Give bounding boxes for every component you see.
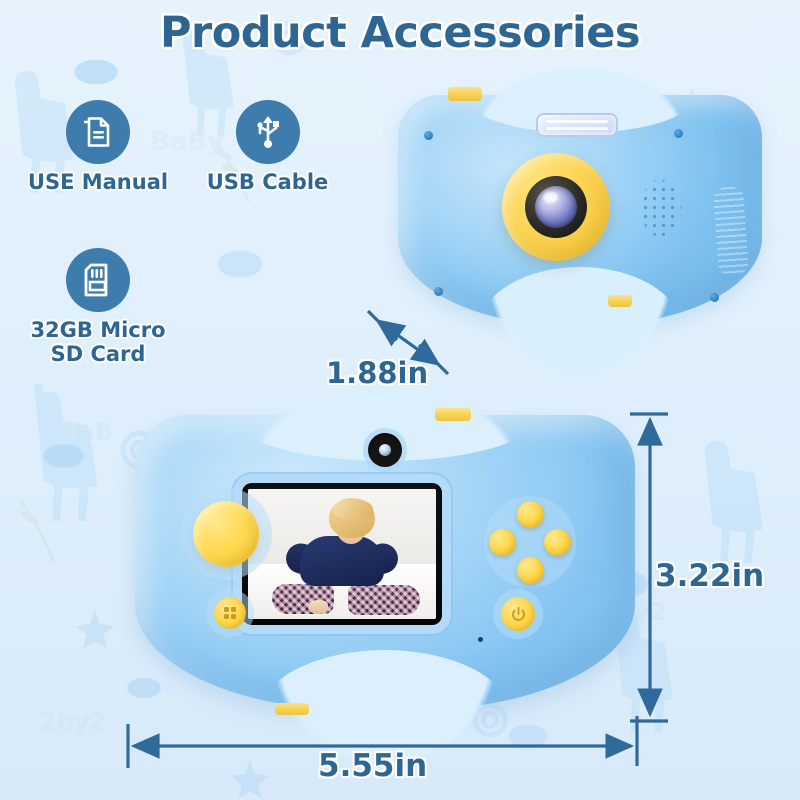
side-port-nub xyxy=(608,295,632,307)
led-indicator xyxy=(478,637,483,642)
accessory-label: 32GB Micro SD Card xyxy=(18,318,178,366)
usb-cable-icon xyxy=(249,113,287,151)
accessory-label: USE Manual xyxy=(18,170,178,194)
svg-text:BaB: BaB xyxy=(60,418,113,446)
camera-bottom-contour xyxy=(480,267,680,387)
dimension-label-width: 5.55in xyxy=(318,748,427,784)
screw-top-left xyxy=(424,131,433,140)
grip-ridges xyxy=(713,186,749,276)
screw-top-right xyxy=(674,129,683,138)
shutter-button[interactable] xyxy=(193,501,259,567)
shutter-nub-top xyxy=(448,87,482,101)
speaker-grille xyxy=(632,167,690,251)
page-title: Product Accessories xyxy=(0,8,800,58)
dpad-button-right[interactable] xyxy=(544,529,571,556)
accessory-item-manual: USE Manual xyxy=(18,100,178,194)
screw-bottom-right xyxy=(710,293,719,302)
dpad-button-left[interactable] xyxy=(489,529,516,556)
screw-bottom-left xyxy=(434,287,443,296)
lens-bezel xyxy=(525,176,587,238)
accessory-item-usb: USB Cable xyxy=(190,100,345,194)
kids-camera-back-view xyxy=(135,415,635,710)
selfie-camera-lens xyxy=(368,433,402,467)
power-button[interactable] xyxy=(501,597,535,631)
lens-ring xyxy=(502,153,610,261)
grid-icon xyxy=(222,605,238,621)
mode-button[interactable] xyxy=(214,597,246,629)
dpad-control[interactable] xyxy=(487,499,573,585)
lcd-screen xyxy=(242,483,442,625)
tripod-nub-bottom xyxy=(275,703,309,715)
lens-glass xyxy=(535,186,577,228)
accessory-icon-badge xyxy=(66,100,130,164)
svg-text:2by2: 2by2 xyxy=(40,708,106,736)
accessory-item-sd-card: 32GB Micro SD Card xyxy=(18,248,178,366)
shutter-nub-top-back xyxy=(435,408,471,421)
dimension-label-depth: 1.88in xyxy=(326,356,428,390)
screen-photo-child xyxy=(248,489,436,619)
dpad-button-down[interactable] xyxy=(517,557,544,584)
accessory-icon-badge xyxy=(66,248,130,312)
power-icon xyxy=(510,606,527,623)
kids-camera-front-view xyxy=(398,95,762,325)
document-manual-icon xyxy=(79,113,117,151)
product-infographic: BaBy BaB 2by2 2by2 2by2 Product Accessor… xyxy=(0,0,800,800)
flash-led-bar xyxy=(536,113,618,137)
dpad-button-up[interactable] xyxy=(517,501,544,528)
sd-card-icon xyxy=(79,261,117,299)
accessory-icon-badge xyxy=(236,100,300,164)
accessory-label: USB Cable xyxy=(190,170,345,194)
dimension-label-height: 3.22in xyxy=(655,558,764,594)
